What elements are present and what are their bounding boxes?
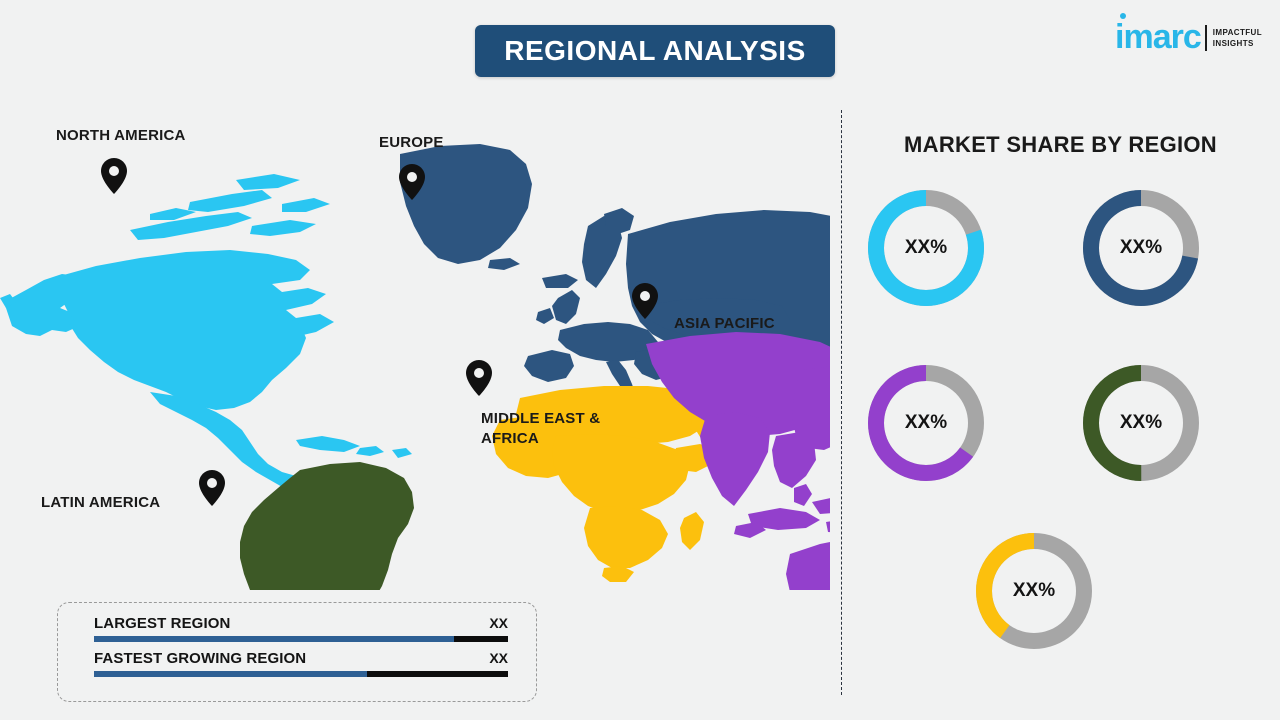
logo-text: imarc	[1115, 18, 1201, 56]
legend-track-largest-region	[94, 636, 508, 642]
donut-chart-europe: XX%	[1075, 182, 1207, 314]
logo-wordmark: imarc	[1115, 22, 1201, 53]
legend-label-fastest-growing-region: FASTEST GROWING REGION	[94, 650, 306, 667]
donut-chart-north-america: XX%	[860, 182, 992, 314]
donut-chart-middle-east-africa: XX%	[968, 525, 1100, 657]
logo-dot-icon	[1120, 13, 1126, 19]
donut-label: XX%	[1075, 182, 1207, 314]
donut-label: XX%	[968, 525, 1100, 657]
map-region-north-america	[0, 174, 412, 512]
legend-value-largest-region: XX	[489, 615, 508, 631]
map-label-asia-pacific: ASIA PACIFIC	[674, 314, 775, 334]
legend-track-fastest-growing-region	[94, 671, 508, 677]
map-pin-middle-east-africa[interactable]	[466, 360, 492, 396]
donut-chart-asia-pacific: XX%	[860, 357, 992, 489]
legend-box: LARGEST REGION XX FASTEST GROWING REGION…	[57, 602, 537, 702]
legend-fill-largest-region	[94, 636, 454, 642]
map-label-middle-east-africa: MIDDLE EAST & AFRICA	[481, 409, 600, 450]
panel-divider	[841, 110, 842, 695]
map-pin-asia-pacific[interactable]	[632, 283, 658, 319]
map-pin-latin-america[interactable]	[199, 470, 225, 506]
donut-label: XX%	[860, 182, 992, 314]
legend-label-largest-region: LARGEST REGION	[94, 615, 230, 632]
map-label-europe: EUROPE	[379, 133, 444, 153]
map-region-latin-america	[240, 462, 414, 590]
map-label-latin-america: LATIN AMERICA	[41, 493, 160, 513]
logo-tagline: IMPACTFUL INSIGHTS	[1213, 28, 1262, 53]
map-pin-europe[interactable]	[399, 164, 425, 200]
regional-analysis-infographic: REGIONAL ANALYSIS imarc IMPACTFUL INSIGH…	[0, 0, 1280, 720]
legend-row-largest-region: LARGEST REGION XX	[94, 615, 508, 642]
legend-fill-fastest-growing-region	[94, 671, 367, 677]
market-share-title: MARKET SHARE BY REGION	[841, 132, 1280, 158]
donut-chart-latin-america: XX%	[1075, 357, 1207, 489]
map-label-north-america: NORTH AMERICA	[56, 126, 186, 146]
page-title-banner: REGIONAL ANALYSIS	[475, 25, 835, 77]
donut-label: XX%	[1075, 357, 1207, 489]
imarc-logo: imarc IMPACTFUL INSIGHTS	[1115, 22, 1262, 53]
logo-tagline-line1: IMPACTFUL	[1213, 28, 1262, 39]
donut-label: XX%	[860, 357, 992, 489]
logo-tagline-line2: INSIGHTS	[1213, 39, 1262, 50]
page-title: REGIONAL ANALYSIS	[504, 35, 806, 67]
legend-row-fastest-growing-region: FASTEST GROWING REGION XX	[94, 650, 508, 677]
map-pin-north-america[interactable]	[101, 158, 127, 194]
logo-divider	[1205, 25, 1207, 51]
legend-value-fastest-growing-region: XX	[489, 650, 508, 666]
